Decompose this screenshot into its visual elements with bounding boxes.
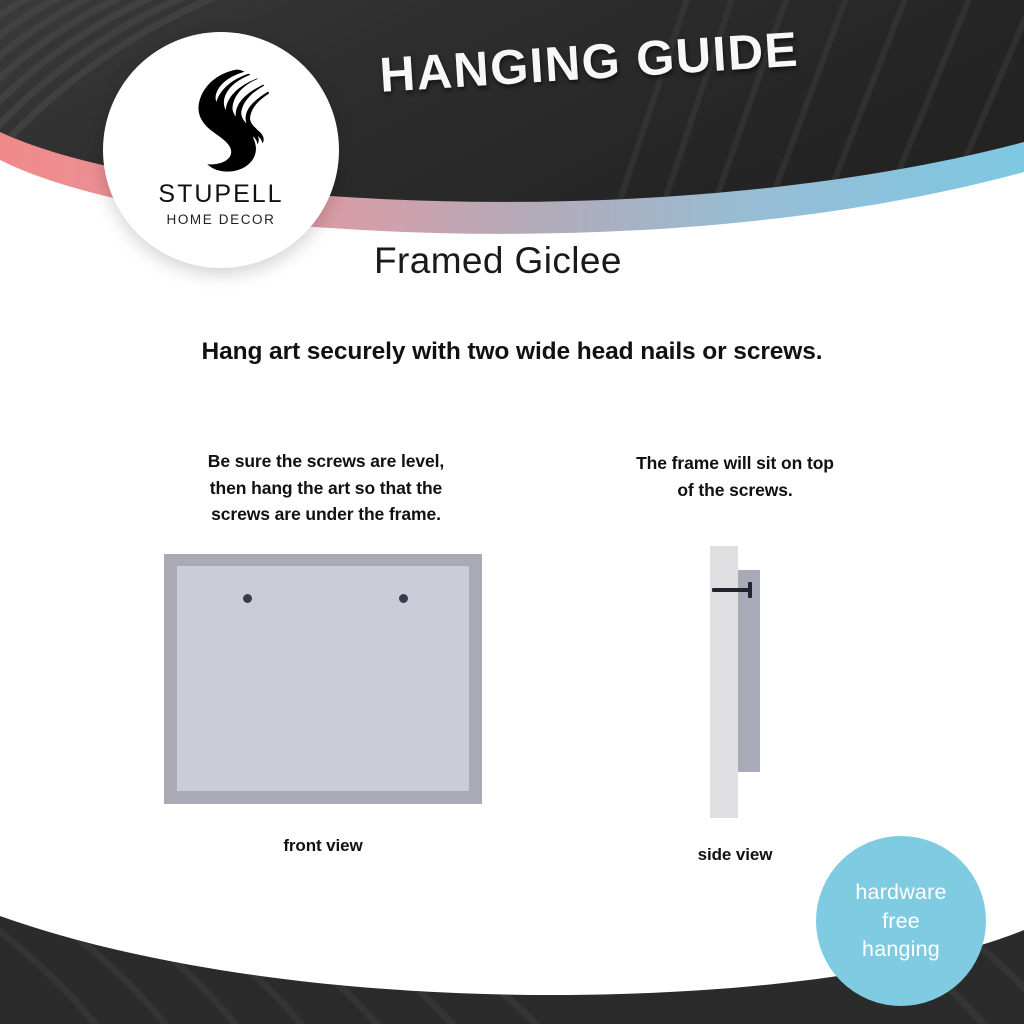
front-view-caption: Be sure the screws are level, then hang … xyxy=(155,448,497,528)
caption-line: then hang the art so that the xyxy=(155,475,497,502)
caption-line: Be sure the screws are level, xyxy=(155,448,497,475)
caption-line: screws are under the frame. xyxy=(155,501,497,528)
main-instruction: Hang art securely with two wide head nai… xyxy=(0,338,1024,366)
badge-line-1: hardware xyxy=(855,878,946,906)
stupell-swoosh-icon xyxy=(162,60,280,178)
logo-wordmark: STUPELL xyxy=(158,182,283,207)
front-view-label: front view xyxy=(164,836,482,856)
side-view-label: side view xyxy=(640,845,830,865)
side-view-wall xyxy=(710,546,738,818)
front-view-art-panel xyxy=(177,566,469,791)
caption-line: The frame will sit on top xyxy=(598,450,872,477)
screw-dot-left xyxy=(243,594,252,603)
nail-head-icon xyxy=(748,582,752,598)
side-view-caption: The frame will sit on top of the screws. xyxy=(598,450,872,503)
hardware-free-hanging-badge: hardware free hanging xyxy=(816,836,986,1006)
caption-line: of the screws. xyxy=(598,477,872,504)
side-view-frame xyxy=(738,570,760,772)
screw-dot-right xyxy=(399,594,408,603)
product-name: Framed Giclee xyxy=(374,240,622,282)
front-view-diagram xyxy=(164,554,482,804)
badge-line-2: free xyxy=(882,907,920,935)
nail-shaft-icon xyxy=(712,588,750,592)
hanging-guide-page: STUPELL HOME DECOR HANGING GUIDE Framed … xyxy=(0,0,1024,1024)
side-view-diagram xyxy=(690,540,790,825)
badge-line-3: hanging xyxy=(862,935,940,963)
stupell-logo-badge: STUPELL HOME DECOR xyxy=(103,32,339,268)
logo-tagline: HOME DECOR xyxy=(166,213,275,227)
